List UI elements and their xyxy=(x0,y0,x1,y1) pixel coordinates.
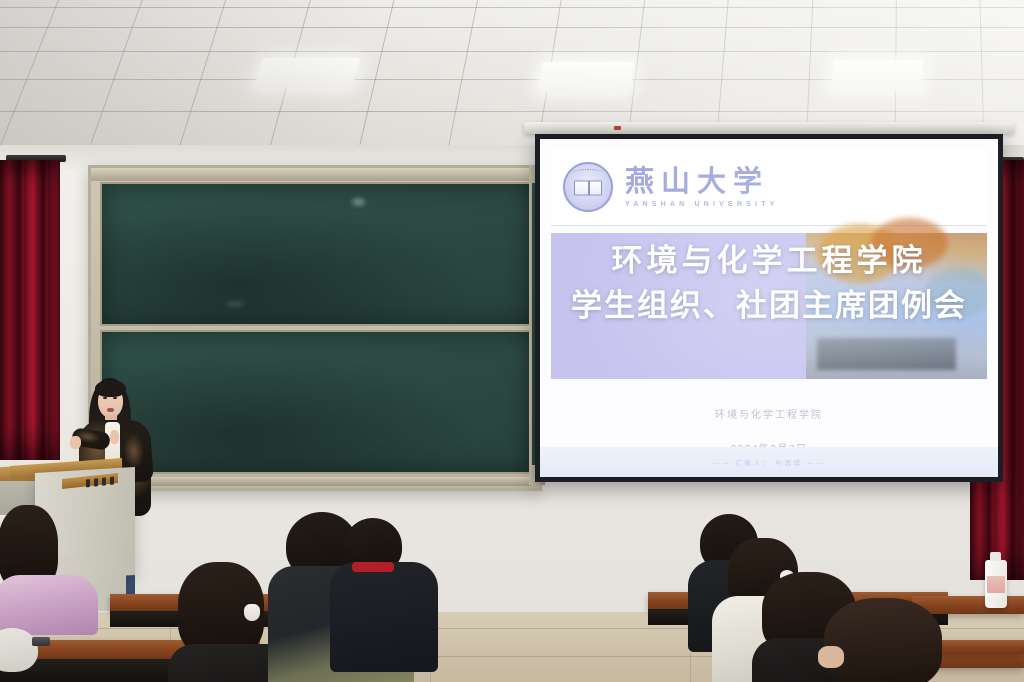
slide-footer: 环境与化学工程学院 2024年3月7日 xyxy=(551,382,987,447)
presenter-left-hand xyxy=(70,436,81,449)
bottle-label xyxy=(987,576,1005,593)
student-hair xyxy=(824,598,942,682)
slide-presenter-tagline: —— 汇报人： 叶思琪 —— xyxy=(713,457,825,467)
student-pink-jacket xyxy=(0,505,104,625)
projection-screen: 燕山大学 YANSHAN UNIVERSITY 环境与化学工程学院 学生组织、社… xyxy=(535,134,1003,482)
presenter-mouth xyxy=(107,408,114,412)
student-torso xyxy=(0,575,98,635)
blackboard-panel-upper xyxy=(100,182,534,326)
red-scarf xyxy=(352,562,394,572)
curtain-left xyxy=(0,160,60,460)
presenter-right-hand xyxy=(110,430,119,444)
student-torso xyxy=(330,562,438,672)
blackboard-panel-lower xyxy=(100,330,534,474)
water-bottle-on-desk[interactable] xyxy=(985,560,1007,608)
housing-indicator-icon xyxy=(614,126,621,130)
slide-header: 燕山大学 YANSHAN UNIVERSITY xyxy=(551,149,987,226)
bottle-cap xyxy=(990,552,1001,561)
slide-title: 环境与化学工程学院 学生组织、社团主席团例会 xyxy=(540,239,998,329)
blackboard xyxy=(88,165,542,491)
presentation-slide: 燕山大学 YANSHAN UNIVERSITY 环境与化学工程学院 学生组织、社… xyxy=(540,139,998,477)
university-name-en: YANSHAN UNIVERSITY xyxy=(625,201,779,208)
student-right-front xyxy=(818,598,968,682)
projection-screen-housing xyxy=(524,122,1014,134)
classroom-scene: 燕山大学 YANSHAN UNIVERSITY 环境与化学工程学院 学生组织、社… xyxy=(0,0,1024,682)
face-mask xyxy=(244,604,260,621)
yanshan-university-emblem-icon xyxy=(563,162,613,212)
student-red-collar xyxy=(330,518,440,668)
university-name-group: 燕山大学 YANSHAN UNIVERSITY xyxy=(625,167,779,208)
slide-title-line-2: 学生组织、社团主席团例会 xyxy=(540,284,998,329)
phone-on-desk[interactable] xyxy=(32,637,50,646)
student-head xyxy=(0,628,38,672)
slide-organization: 环境与化学工程学院 xyxy=(551,406,987,421)
university-name-cn: 燕山大学 xyxy=(625,167,779,196)
presenter-fringe xyxy=(95,380,126,397)
slide-bottom-strip: —— 汇报人： 叶思琪 —— xyxy=(540,447,998,477)
slide-title-line-1: 环境与化学工程学院 xyxy=(540,239,998,284)
student-hand xyxy=(818,646,844,668)
chalk-tray xyxy=(99,477,531,486)
blackboard-top-rail xyxy=(91,168,539,181)
